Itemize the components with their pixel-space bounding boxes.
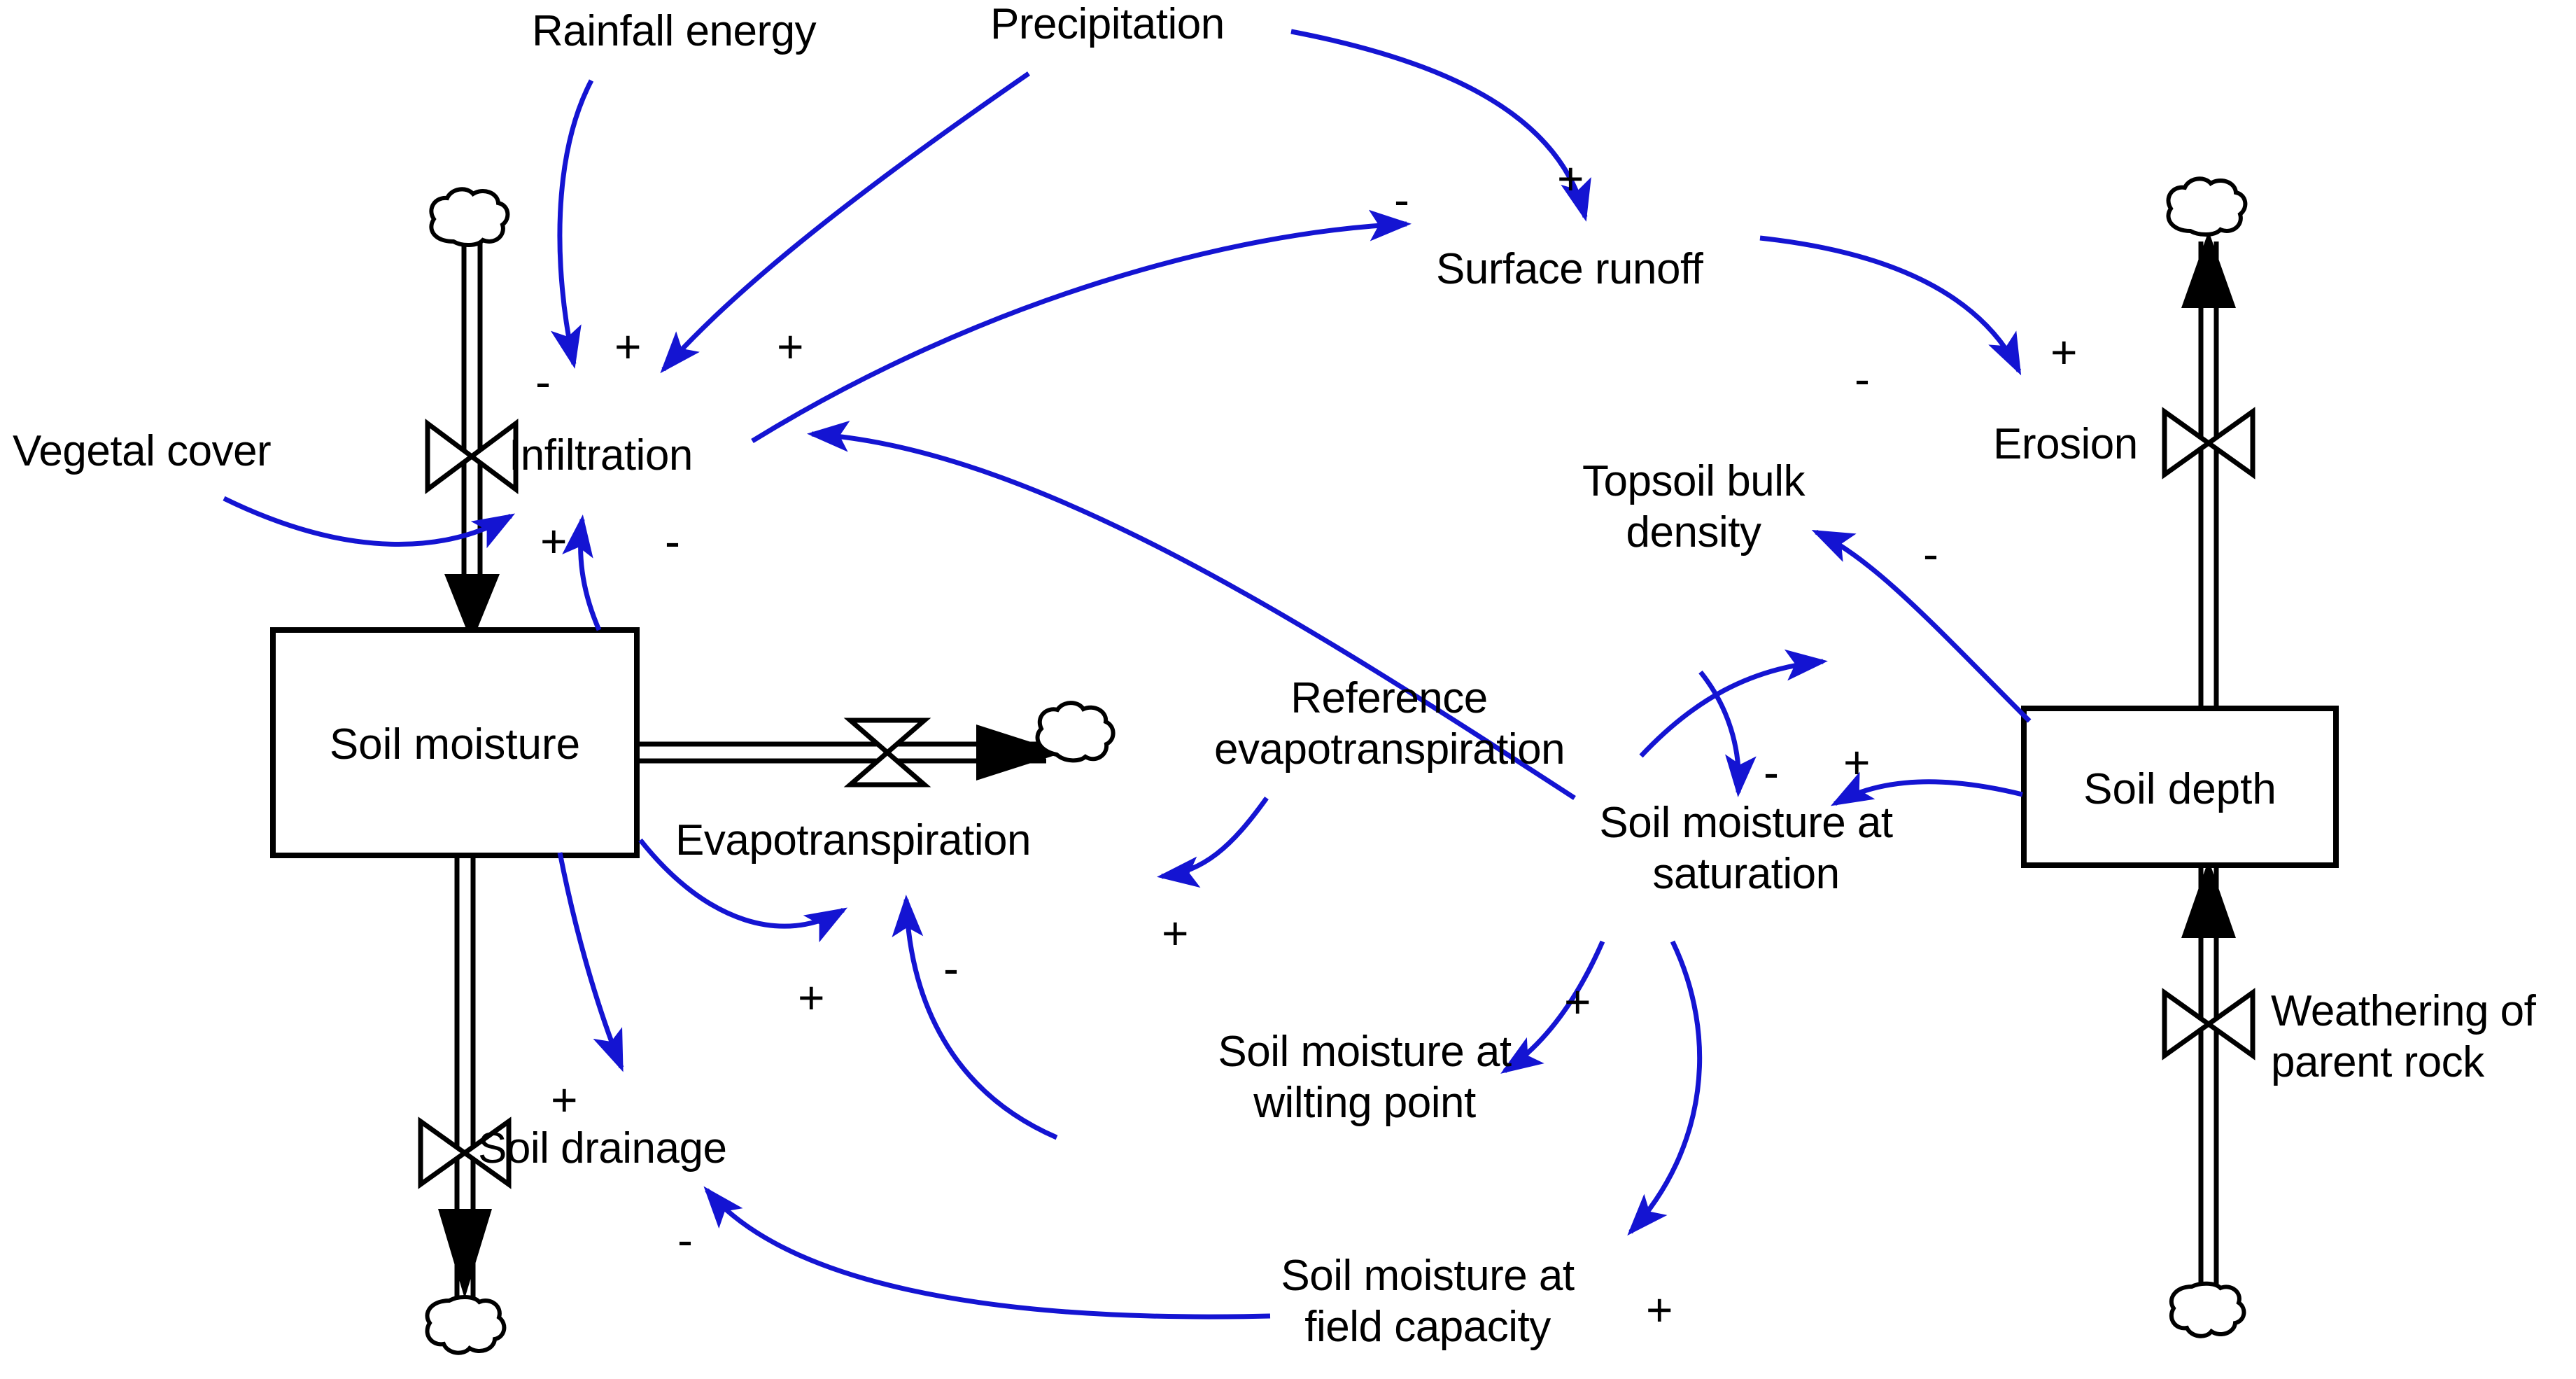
link-infiltration-to-surface-runoff[interactable] [752, 224, 1407, 441]
flow-pipe-soil-drainage [438, 855, 492, 1302]
cloud-erosion-sink [2168, 178, 2245, 234]
flow-pipe-evapotranspiration [635, 724, 1064, 780]
variable-label-soil-moisture-saturation-line1[interactable]: Soil moisture at [1571, 800, 1921, 846]
flow-pipe-erosion [2181, 231, 2236, 707]
polarity-sign-rainfall-infiltration: - [535, 358, 551, 405]
polarity-sign-wilting-evapo: - [943, 945, 959, 991]
flow-label-erosion[interactable]: Erosion [1993, 421, 2138, 468]
link-precipitation-to-infiltration[interactable] [663, 73, 1029, 370]
cloud-soil-drainage-sink [427, 1297, 504, 1353]
polarity-sign-soilmoisture-infiltration: - [665, 518, 680, 564]
polarity-sign-soildepth-saturation: + [1843, 739, 1871, 785]
polarity-sign-topsoil-erosion: - [1854, 356, 1870, 402]
variable-label-soil-moisture-field-capacity-line1[interactable]: Soil moisture at [1253, 1253, 1603, 1299]
polarity-sign-soilmoisture-drainage: + [551, 1077, 578, 1123]
polarity-sign-runoff-erosion: + [2050, 329, 2078, 375]
polarity-sign-precipitation-infiltration: + [614, 323, 642, 370]
variable-label-soil-moisture-wilting-line1[interactable]: Soil moisture at [1190, 1029, 1540, 1075]
link-surface-runoff-to-erosion[interactable] [1760, 238, 2019, 371]
variable-label-reference-evapotranspiration-line1[interactable]: Reference [1214, 675, 1564, 722]
variable-label-rainfall-energy[interactable]: Rainfall energy [532, 8, 816, 55]
variable-label-soil-moisture-field-capacity-line2[interactable]: field capacity [1253, 1304, 1603, 1350]
polarity-sign-refevapo-evapo: + [1162, 910, 1189, 956]
variable-label-precipitation[interactable]: Precipitation [990, 1, 1225, 48]
flow-label-evapotranspiration[interactable]: Evapotranspiration [675, 818, 1031, 864]
cloud-weathering-source [2172, 1284, 2244, 1336]
variable-label-surface-runoff[interactable]: Surface runoff [1436, 246, 1703, 293]
flow-label-infiltration[interactable]: Infiltration [509, 433, 693, 479]
variable-label-topsoil-bulk-density-line2[interactable]: density [1561, 510, 1827, 556]
valve-weathering [2165, 993, 2253, 1056]
stock-label-soil-depth[interactable]: Soil depth [2024, 764, 2336, 814]
variable-label-soil-moisture-saturation-line2[interactable]: saturation [1571, 851, 1921, 897]
polarity-sign-saturation-fieldcap: + [1646, 1287, 1673, 1333]
link-soil-moisture-to-soil-drainage[interactable] [560, 853, 621, 1067]
link-rainfall-energy-to-infiltration[interactable] [560, 80, 591, 364]
flow-label-weathering-line1[interactable]: Weathering of [2271, 988, 2535, 1035]
flow-label-weathering-line2[interactable]: parent rock [2271, 1039, 2484, 1086]
polarity-sign-topsoil-saturation: - [1764, 749, 1779, 795]
polarity-sign-saturation-infiltration: + [777, 323, 804, 370]
cloud-infiltration-source [431, 189, 507, 245]
link-precipitation-to-surface-runoff[interactable] [1291, 31, 1585, 217]
flow-label-soil-drainage[interactable]: Soil drainage [478, 1126, 726, 1172]
variable-label-vegetal-cover[interactable]: Vegetal cover [13, 428, 271, 475]
variable-label-topsoil-bulk-density-line1[interactable]: Topsoil bulk [1561, 458, 1827, 505]
polarity-sign-infiltration-runoff: - [1394, 176, 1409, 223]
valve-erosion [2165, 412, 2253, 475]
link-saturation-to-field-capacity[interactable] [1631, 941, 1700, 1232]
polarity-sign-precipitation-runoff: + [1557, 155, 1584, 202]
polarity-sign-fieldcap-drainage: - [677, 1217, 693, 1263]
stock-label-soil-moisture[interactable]: Soil moisture [273, 720, 637, 769]
polarity-sign-soildepth-topsoil: - [1923, 531, 1938, 577]
flow-pipe-weathering [2181, 860, 2236, 1288]
polarity-sign-vegetal-infiltration: + [540, 518, 568, 564]
link-wilting-point-to-evapotranspiration[interactable] [906, 899, 1057, 1137]
link-vegetal-cover-to-infiltration[interactable] [224, 498, 511, 545]
link-reference-evapo-to-evapotranspiration[interactable] [1162, 798, 1267, 876]
link-soil-moisture-to-infiltration[interactable] [581, 519, 599, 630]
polarity-sign-soilmoisture-evapo: + [798, 974, 825, 1021]
variable-label-reference-evapotranspiration-line2[interactable]: evapotranspiration [1214, 727, 1564, 773]
valve-evapotranspiration [850, 720, 924, 785]
link-field-capacity-to-soil-drainage[interactable] [707, 1190, 1270, 1317]
valve-infiltration [428, 423, 516, 489]
variable-label-soil-moisture-wilting-line2[interactable]: wilting point [1190, 1080, 1540, 1126]
polarity-sign-saturation-wilting: + [1564, 979, 1591, 1025]
cloud-evapotranspiration-sink [1038, 703, 1113, 760]
diagram-canvas: Rainfall energy Precipitation Vegetal co… [0, 0, 2576, 1379]
